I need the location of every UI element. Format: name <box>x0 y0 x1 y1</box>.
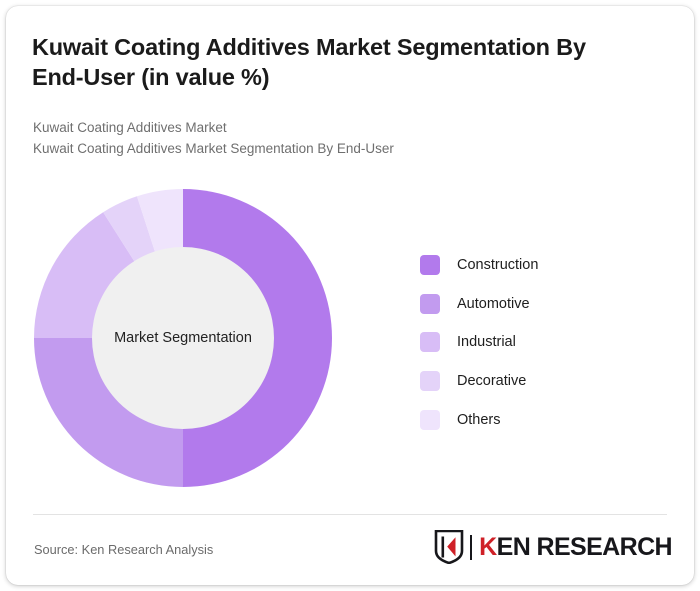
legend-item-construction[interactable]: Construction <box>420 246 670 285</box>
donut-chart-svg <box>33 188 333 488</box>
legend-swatch-decorative <box>420 371 440 391</box>
legend-label-decorative: Decorative <box>457 373 526 389</box>
footer-divider <box>33 514 667 515</box>
legend-label-automotive: Automotive <box>457 296 530 312</box>
legend-label-industrial: Industrial <box>457 334 516 350</box>
legend-item-decorative[interactable]: Decorative <box>420 362 670 401</box>
chart-area: Market Segmentation ConstructionAutomoti… <box>6 174 694 504</box>
legend-swatch-others <box>420 410 440 430</box>
brand-logo: KEN RESEARCH <box>434 530 672 564</box>
brand-separator <box>470 535 472 560</box>
page-title: Kuwait Coating Additives Market Segmenta… <box>32 32 642 92</box>
legend-swatch-automotive <box>420 294 440 314</box>
ken-research-shield-icon <box>434 530 464 564</box>
legend-label-others: Others <box>457 412 501 428</box>
subtitle-group: Kuwait Coating Additives Market Kuwait C… <box>33 118 653 160</box>
chart-page: Kuwait Coating Additives Market Segmenta… <box>0 0 700 591</box>
subtitle-line-2: Kuwait Coating Additives Market Segmenta… <box>33 139 653 160</box>
chart-legend: ConstructionAutomotiveIndustrialDecorati… <box>420 246 670 439</box>
brand-wordmark-rest: EN RESEARCH <box>497 533 672 561</box>
legend-item-industrial[interactable]: Industrial <box>420 323 670 362</box>
legend-swatch-construction <box>420 255 440 275</box>
legend-item-others[interactable]: Others <box>420 400 670 439</box>
subtitle-line-1: Kuwait Coating Additives Market <box>33 118 653 139</box>
brand-wordmark-k: K <box>479 533 496 561</box>
donut-hole <box>92 247 274 429</box>
legend-swatch-industrial <box>420 332 440 352</box>
donut-chart: Market Segmentation <box>33 188 333 488</box>
chart-card: Kuwait Coating Additives Market Segmenta… <box>6 6 694 585</box>
legend-item-automotive[interactable]: Automotive <box>420 285 670 324</box>
source-note: Source: Ken Research Analysis <box>34 542 213 557</box>
brand-wordmark: KEN RESEARCH <box>479 535 672 560</box>
legend-label-construction: Construction <box>457 257 538 273</box>
